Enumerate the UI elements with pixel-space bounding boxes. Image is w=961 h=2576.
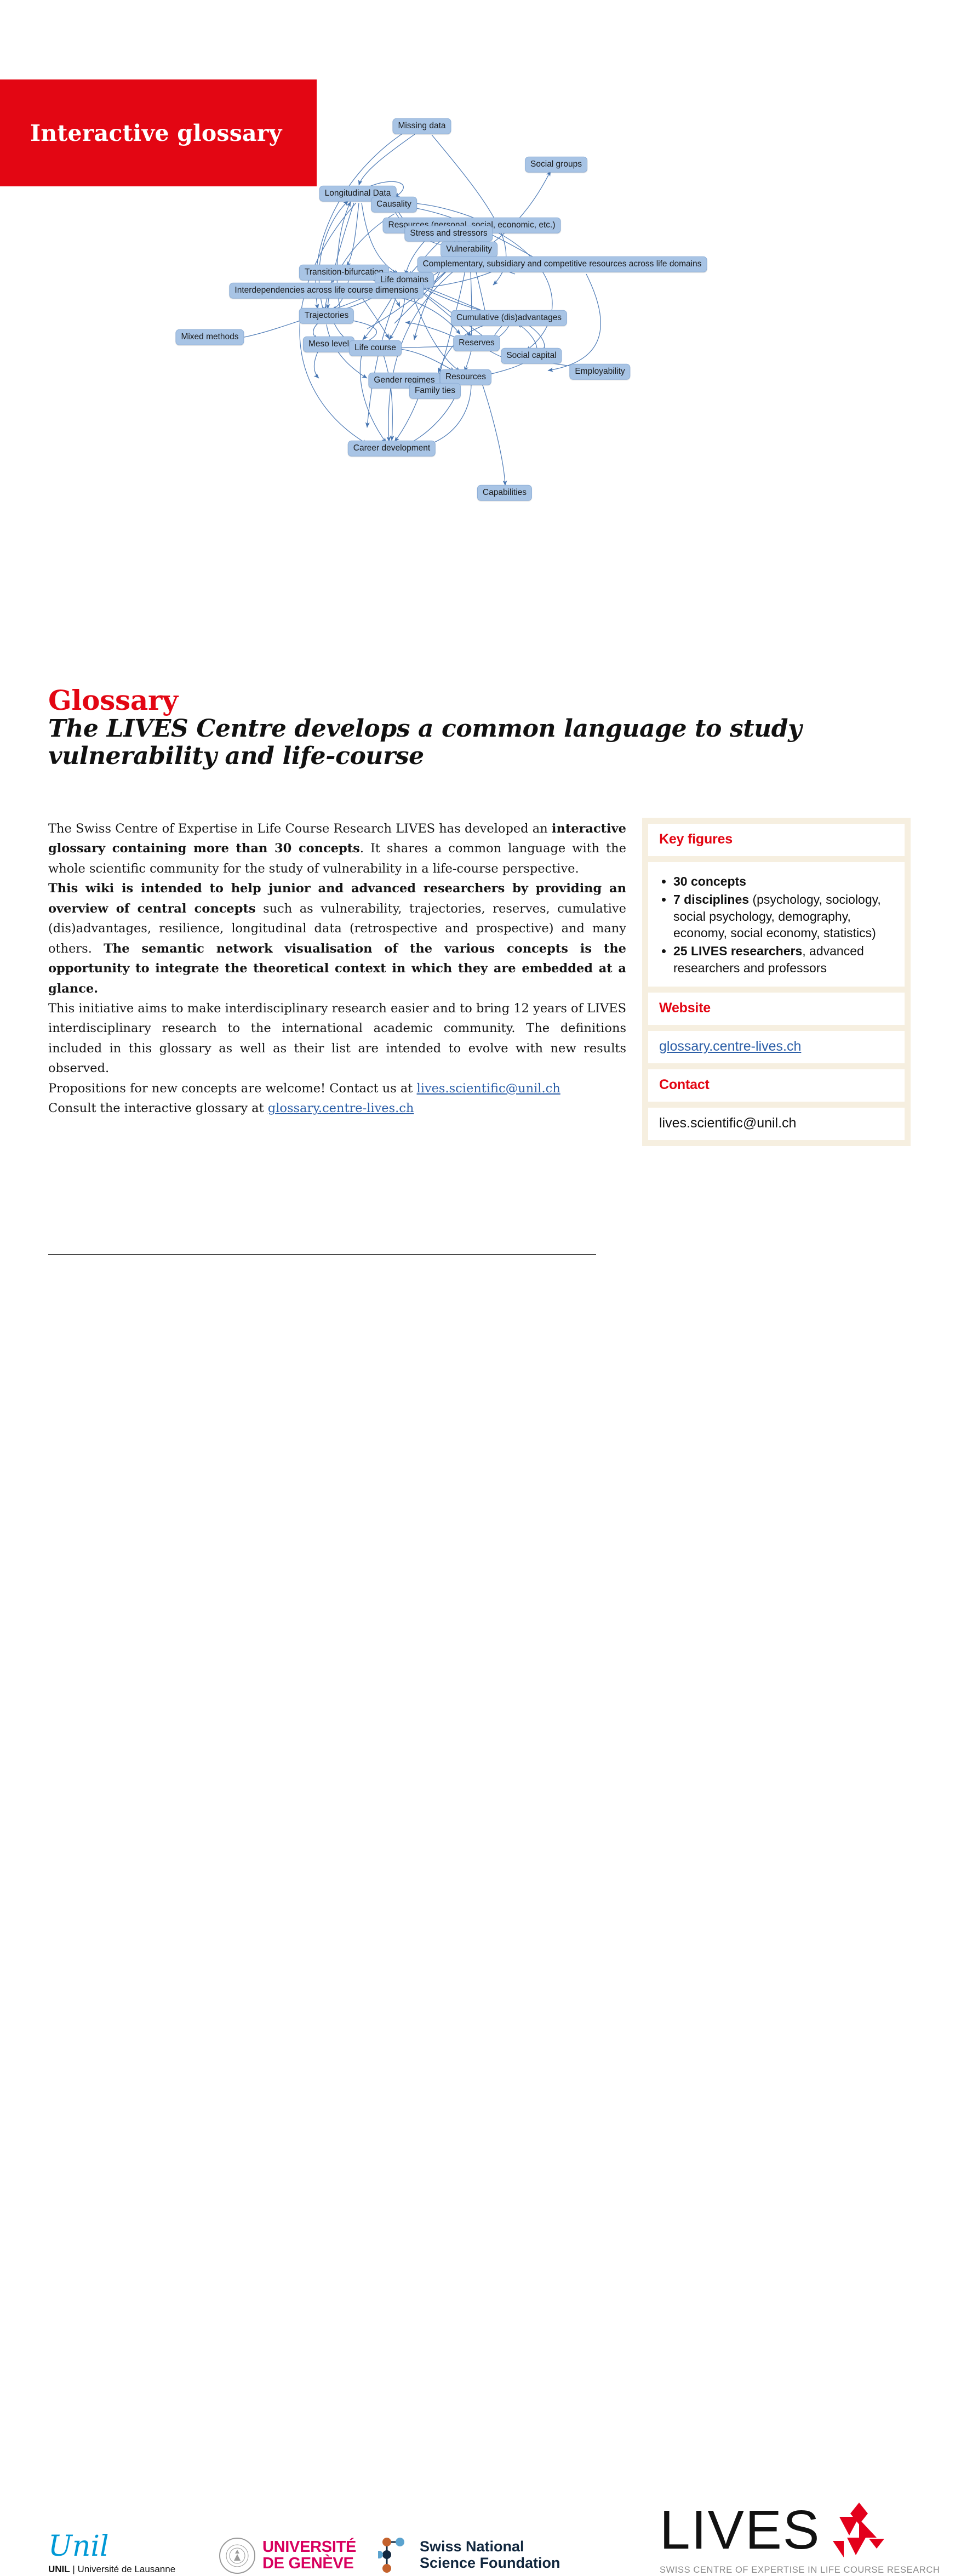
graph-node-reserves[interactable]: Reserves [453,335,500,351]
contact-title: Contact [659,1077,894,1093]
key-figure-item: 7 disciplines (psychology, sociology, so… [673,891,894,941]
website-link[interactable]: glossary.centre-lives.ch [659,1039,801,1054]
graph-node-social-capital[interactable]: Social capital [501,348,562,364]
info-sidebar: Key figures 30 concepts 7 disciplines (p… [642,818,911,1146]
graph-node-missing-data[interactable]: Missing data [392,118,451,134]
article-body: The Swiss Centre of Expertise in Life Co… [48,819,626,1119]
paragraph-1: The Swiss Centre of Expertise in Life Co… [48,819,626,879]
paragraph-2: This wiki is intended to help junior and… [48,879,626,999]
footer-logos: Unil UNIL | Université de Lausanne UNIVE… [0,1261,961,1359]
unil-logo: Unil UNIL | Université de Lausanne [48,2532,196,2575]
website-value-card: glossary.centre-lives.ch [648,1031,905,1063]
graph-node-interdependencies-across-life-course-dimensions[interactable]: Interdependencies across life course dim… [229,283,424,299]
p2-bold-c: The semantic network visualisation of th… [48,942,626,996]
unige-wordmark: UNIVERSITÉ DE GENÈVE [262,2539,356,2572]
website-header-card: Website [648,993,905,1025]
unige-seal-icon [219,2538,255,2574]
graph-node-vulnerability[interactable]: Vulnerability [441,242,497,258]
p4-part-a: Propositions for new concepts are welcom… [48,1081,417,1096]
snsf-line-2: Science Foundation [420,2555,560,2571]
unil-bold: UNIL [48,2564,70,2574]
lives-wordmark-row: LIVES [660,2505,945,2562]
graph-node-meso-level[interactable]: Meso level [303,337,354,352]
footer-divider [48,1254,596,1255]
eyebrow-heading: Glossary [48,684,178,716]
graph-node-family-ties[interactable]: Family ties [409,383,461,399]
paragraph-4: Propositions for new concepts are welcom… [48,1079,626,1098]
figure-bold-2: 25 LIVES researchers [673,944,802,958]
lives-caption: SWISS CENTRE OF EXPERTISE IN LIFE COURSE… [660,2565,945,2575]
contact-header-card: Contact [648,1069,905,1102]
snsf-logo: Swiss National Science Foundation [378,2533,560,2576]
key-figure-item: 25 LIVES researchers, advanced researche… [673,943,894,976]
paragraph-5: Consult the interactive glossary at glos… [48,1098,626,1118]
graph-node-cumulative-disadvantages[interactable]: Cumulative (dis)advantages [451,310,567,326]
graph-node-career-development[interactable]: Career development [348,441,436,457]
email-link-body[interactable]: lives.scientific@unil.ch [417,1081,560,1096]
unige-line-2: DE GENÈVE [262,2556,356,2572]
key-figures-list: 30 concepts 7 disciplines (psychology, s… [659,873,894,976]
unige-logo: UNIVERSITÉ DE GENÈVE [219,2538,356,2574]
unil-lockup: UNIL | Université de Lausanne [48,2564,196,2575]
lives-wordmark: LIVES [660,2505,821,2555]
graph-node-mixed-methods[interactable]: Mixed methods [175,329,244,345]
glossary-link-body[interactable]: glossary.centre-lives.ch [268,1101,414,1115]
page-title: The LIVES Centre develops a common langu… [48,715,881,770]
contact-value-card: lives.scientific@unil.ch [648,1108,905,1140]
graph-node-employability[interactable]: Employability [569,364,630,380]
key-figures-title: Key figures [659,831,894,847]
figure-bold-1: 7 disciplines [673,892,749,907]
graph-node-causality[interactable]: Causality [371,197,417,213]
key-figures-header-card: Key figures [648,824,905,856]
key-figure-item: 30 concepts [673,873,894,890]
key-figures-list-card: 30 concepts 7 disciplines (psychology, s… [648,862,905,987]
graph-node-capabilities[interactable]: Capabilities [477,485,532,501]
snsf-node-icon [378,2533,412,2576]
lives-mark-icon [823,2503,889,2562]
p5-part-a: Consult the interactive glossary at [48,1101,268,1115]
snsf-wordmark: Swiss National Science Foundation [420,2538,560,2571]
unil-wordmark: Unil [48,2532,196,2561]
website-title: Website [659,1000,894,1016]
contact-email: lives.scientific@unil.ch [659,1115,894,1131]
unil-rest: | Université de Lausanne [70,2564,175,2574]
graph-node-life-course[interactable]: Life course [349,340,402,356]
figure-bold-0: 30 concepts [673,874,746,888]
graph-node-stress-and-stressors[interactable]: Stress and stressors [404,226,493,242]
graph-node-social-groups[interactable]: Social groups [525,157,587,173]
snsf-line-1: Swiss National [420,2538,560,2555]
paragraph-3: This initiative aims to make interdiscip… [48,999,626,1079]
lives-logo: LIVES SWISS CENTRE OF EXPERTISE IN LIFE … [660,2505,945,2575]
graph-node-complementary-subsidiary-competitive-resources[interactable]: Complementary, subsidiary and competitiv… [417,257,707,272]
semantic-network-diagram[interactable]: Missing data Social groups Longitudinal … [110,66,961,702]
graph-node-trajectories[interactable]: Trajectories [299,308,354,324]
unige-line-1: UNIVERSITÉ [262,2539,356,2556]
p1-part-a: The Swiss Centre of Expertise in Life Co… [48,822,552,836]
